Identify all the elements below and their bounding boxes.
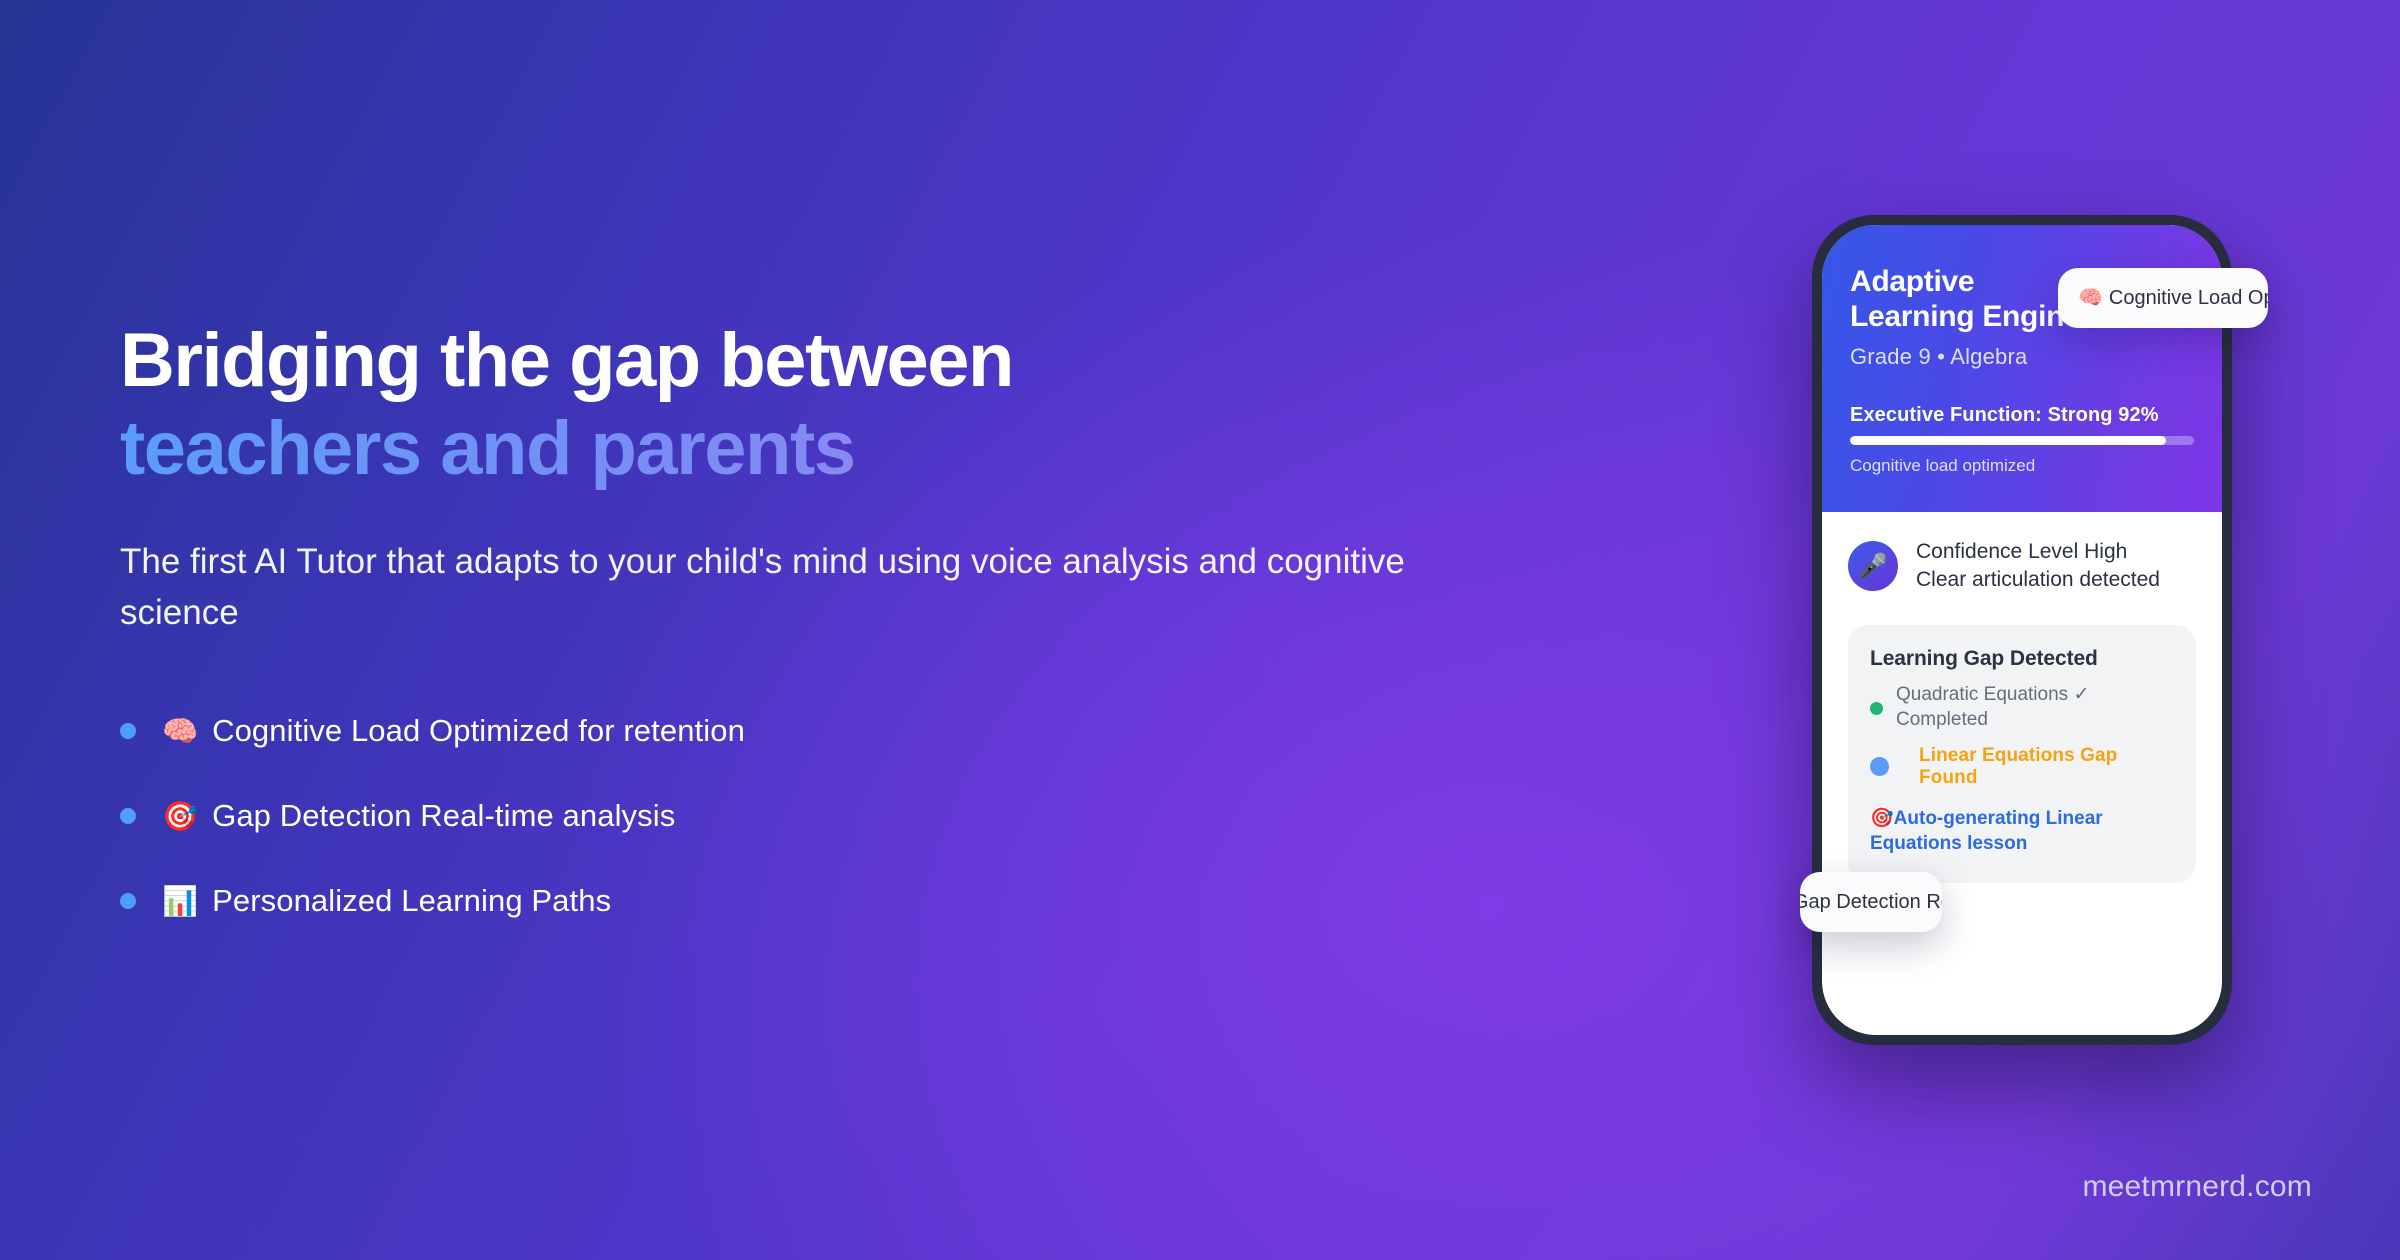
floating-badge-gap-detection: 🎯Gap Detection Real-time — [1800, 872, 1942, 932]
learning-gap-title: Learning Gap Detected — [1870, 647, 2174, 671]
list-item: Linear Equations Gap Found — [1870, 745, 2174, 789]
target-icon: 🎯 — [162, 802, 198, 831]
hero-banner: Bridging the gap between teachers and pa… — [0, 0, 2400, 1260]
floating-badge-label: Cognitive Load Optimized — [2109, 287, 2268, 309]
bullet-dot-icon — [120, 723, 136, 739]
bullet-dot-icon — [120, 893, 136, 909]
bar-chart-icon: 📊 — [162, 887, 198, 916]
microphone-icon: 🎤 — [1848, 541, 1898, 591]
feature-label: Personalized Learning Paths — [212, 883, 611, 919]
learning-gap-card[interactable]: Learning Gap Detected Quadratic Equation… — [1848, 625, 2196, 883]
target-icon: 🎯 — [1870, 807, 1894, 829]
status-dot-completed-icon — [1870, 702, 1883, 715]
gap-action-label: Auto-generating Linear Equations lesson — [1870, 808, 2103, 855]
app-subtitle: Grade 9 • Algebra — [1850, 344, 2194, 370]
brain-icon: 🧠 — [162, 717, 198, 746]
hero-subtitle: The first AI Tutor that adapts to your c… — [120, 537, 1410, 639]
progress-bar-fill — [1850, 436, 2166, 445]
status-dot-gap-icon — [1870, 757, 1889, 776]
confidence-title: Confidence Level High — [1916, 538, 2160, 566]
gap-item-label: Quadratic Equations ✓ Completed — [1896, 683, 2174, 732]
brain-icon: 🧠 — [2078, 285, 2103, 309]
metric-label: Executive Function: Strong 92% — [1850, 404, 2194, 427]
page-title-line1: Bridging the gap between — [120, 320, 1480, 402]
list-item: Quadratic Equations ✓ Completed — [1870, 683, 2174, 732]
feature-label: Gap Detection Real-time analysis — [212, 798, 675, 834]
gap-action-text: 🎯Auto-generating Linear Equations lesson — [1870, 806, 2174, 857]
floating-badge-label: Gap Detection Real-time — [1800, 891, 1942, 913]
metric-subtext: Cognitive load optimized — [1850, 456, 2194, 476]
footer-url[interactable]: meetmrnerd.com — [2082, 1170, 2312, 1204]
confidence-text: Confidence Level High Clear articulation… — [1916, 538, 2160, 593]
bullet-dot-icon — [120, 808, 136, 824]
confidence-subtitle: Clear articulation detected — [1916, 566, 2160, 594]
gap-item-label: Linear Equations Gap Found — [1919, 745, 2174, 789]
feature-label: Cognitive Load Optimized for retention — [212, 713, 745, 749]
page-title-line2: teachers and parents — [120, 406, 1480, 491]
list-item: 📊 Personalized Learning Paths — [120, 859, 1480, 944]
app-title: Adaptive Learning Engine — [1850, 265, 2090, 334]
hero-copy: Bridging the gap between teachers and pa… — [120, 320, 1480, 944]
list-item: 🧠 Cognitive Load Optimized for retention — [120, 689, 1480, 774]
floating-badge-cognitive-load: 🧠Cognitive Load Optimized — [2058, 268, 2268, 328]
progress-bar — [1850, 436, 2194, 445]
feature-list: 🧠 Cognitive Load Optimized for retention… — [120, 689, 1480, 944]
app-body: 🎤 Confidence Level High Clear articulati… — [1822, 512, 2222, 883]
list-item: 🎯 Gap Detection Real-time analysis — [120, 774, 1480, 859]
confidence-row: 🎤 Confidence Level High Clear articulati… — [1848, 538, 2196, 593]
